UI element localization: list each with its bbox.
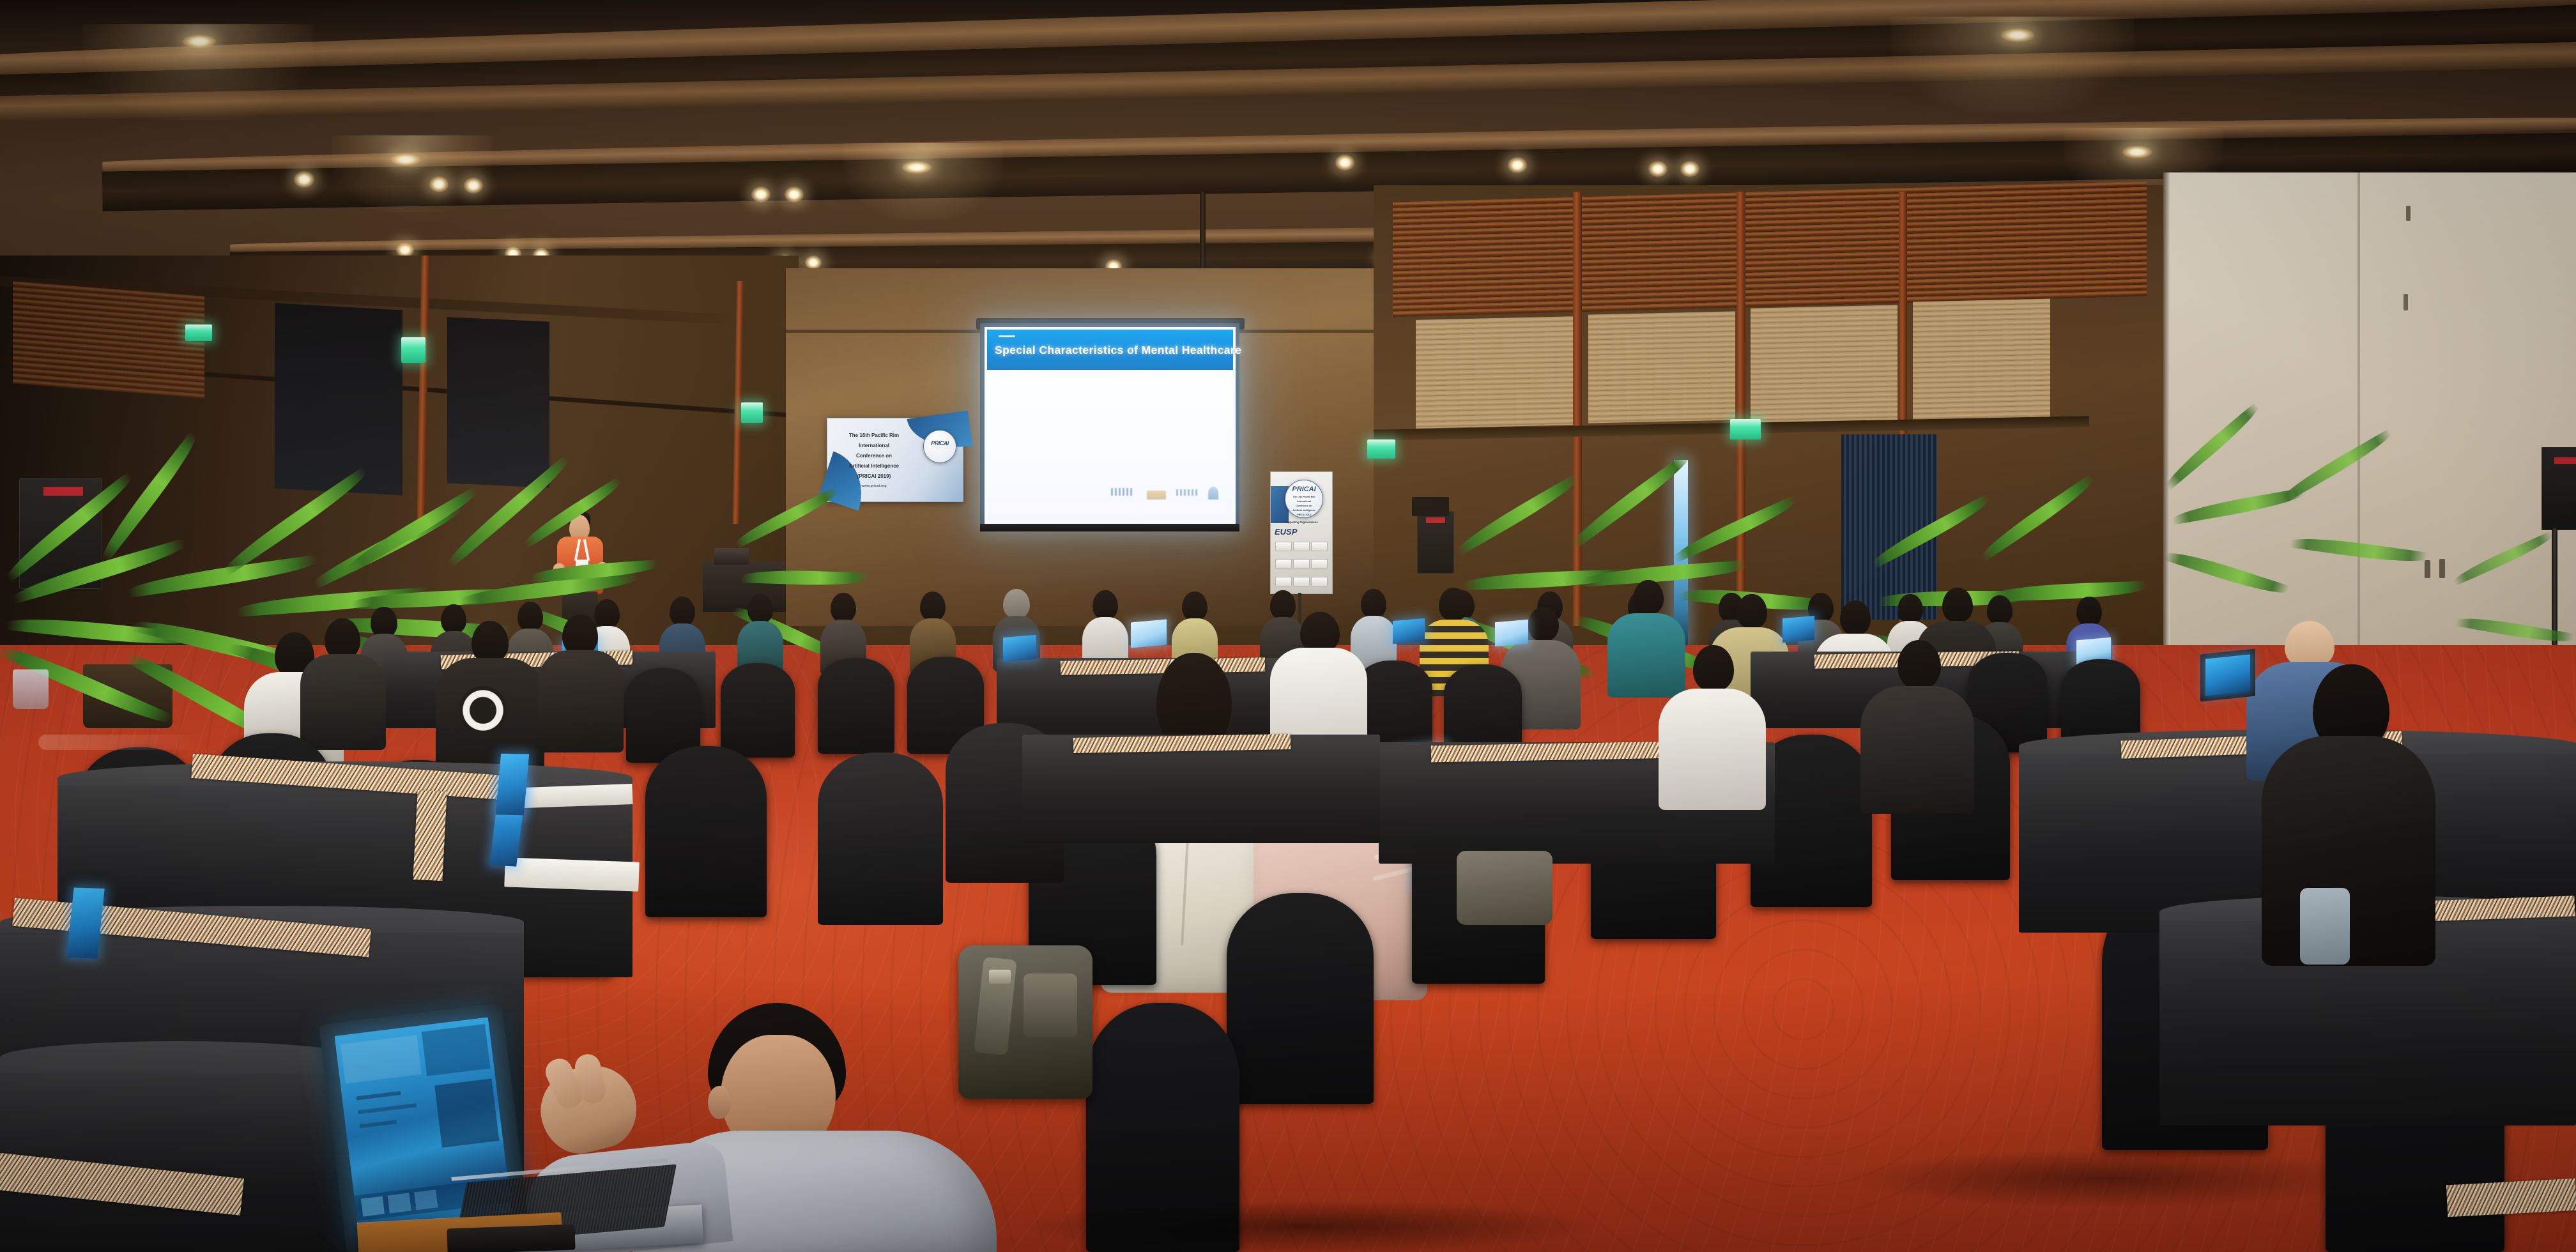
vignette-overlay <box>0 0 2576 1252</box>
conference-hall-photo: Special Characteristics of Mental Health… <box>0 0 2576 1252</box>
